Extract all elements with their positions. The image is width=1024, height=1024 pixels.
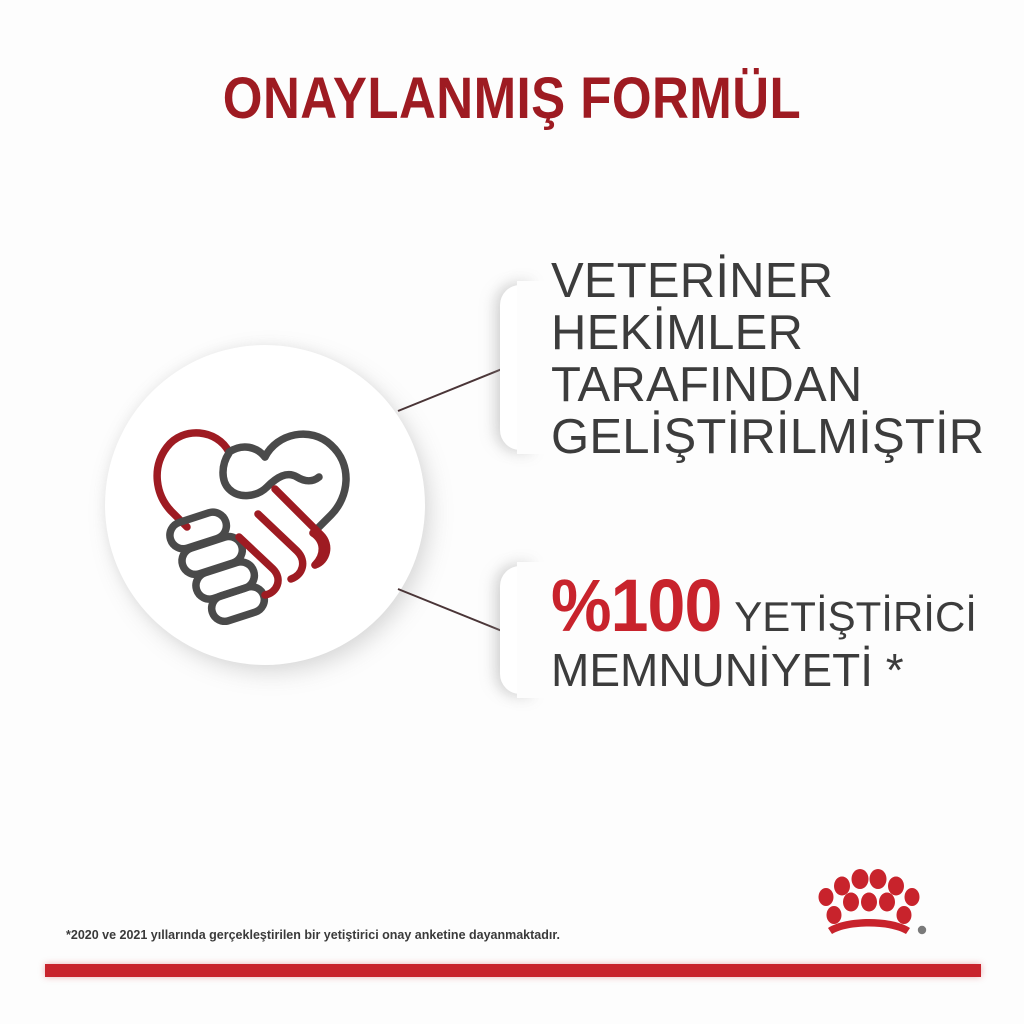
satisfaction-suffix: YETİŞTİRİCİ bbox=[734, 594, 977, 640]
bracket-top bbox=[500, 285, 534, 450]
page-title: ONAYLANMIŞ FORMÜL bbox=[61, 68, 962, 130]
footnote-text: *2020 ve 2021 yıllarında gerçekleştirile… bbox=[66, 927, 560, 943]
bracket-bottom bbox=[500, 566, 534, 694]
claim-line-4: GELİŞTİRİLMİŞTİR bbox=[551, 411, 971, 463]
claim-line-1: VETERİNER bbox=[551, 255, 971, 307]
connector-line-bottom bbox=[398, 588, 512, 636]
claim-breeder-satisfaction: %100 YETİŞTİRİCİ MEMNUNİYETİ * bbox=[551, 571, 981, 695]
satisfaction-line-2: MEMNUNİYETİ * bbox=[551, 645, 981, 695]
claim-line-3: TARAFINDAN bbox=[551, 359, 971, 411]
handshake-heart-icon bbox=[125, 385, 405, 625]
connector-line-top bbox=[398, 366, 508, 412]
bottom-accent-bar bbox=[45, 964, 981, 977]
promo-page: ONAYLANMIŞ FORMÜL bbox=[0, 0, 1024, 1024]
satisfaction-percentage: %100 bbox=[551, 571, 721, 641]
claim-veterinarian-developed: VETERİNER HEKİMLER TARAFINDAN GELİŞTİRİL… bbox=[551, 255, 971, 463]
claim-line-2: HEKİMLER bbox=[551, 307, 971, 359]
royal-canin-crown-logo bbox=[812, 866, 930, 942]
satisfaction-headline-row: %100 YETİŞTİRİCİ bbox=[551, 571, 981, 641]
